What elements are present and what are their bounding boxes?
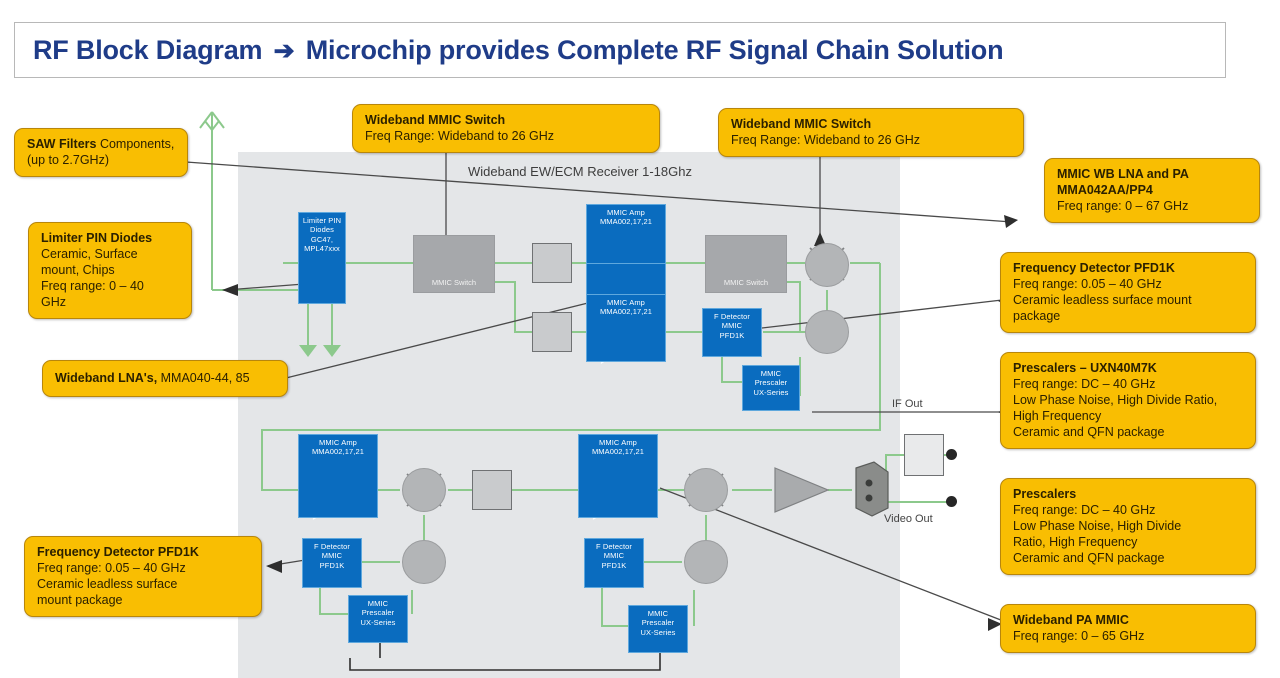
lpd-line-2: Ceramic, Surface <box>41 246 181 262</box>
amp-2-line-2: MMA002,17,21 <box>587 307 665 316</box>
lpd-line-5: GHz <box>41 294 181 310</box>
fdl-line-3: Ceramic leadless surface <box>37 576 251 592</box>
fdr-line-2: Freq range: 0.05 – 40 GHz <box>1013 276 1245 292</box>
presc-2-line-2: Prescaler <box>349 608 407 617</box>
presc-2-line-3: UX-Series <box>349 618 407 627</box>
limiter-line-2: Diodes <box>299 225 345 234</box>
presc-3-line-1: MMIC <box>629 609 687 618</box>
block-mmic-amp-2[interactable]: MMIC Amp MMA002,17,21 <box>586 294 666 362</box>
block-if-detector[interactable] <box>904 434 944 476</box>
lpd-line-4: Freq range: 0 – 40 <box>41 278 181 294</box>
presc-1-line-2: Prescaler <box>743 378 799 387</box>
oscillator-2[interactable] <box>402 540 446 584</box>
fdet-2-line-3: PFD1K <box>303 561 361 570</box>
swtr-hdr: Wideband MMIC Switch <box>731 116 1013 132</box>
block-prescaler-1[interactable]: MMIC Prescaler UX-Series <box>742 365 800 411</box>
pux-line-5: Ceramic and QFN package <box>1013 424 1245 440</box>
block-f-detector-1[interactable]: F Detector MMIC PFD1K <box>702 308 762 357</box>
lna-hdr: Wideband LNA's, <box>55 371 157 385</box>
mixer-3[interactable] <box>684 468 728 512</box>
oscillator-1[interactable] <box>805 310 849 354</box>
pre-line-4: Ratio, High Frequency <box>1013 534 1245 550</box>
amp-1-line-2: MMA002,17,21 <box>587 217 665 226</box>
callout-wideband-lnas[interactable]: Wideband LNA's, MMA040-44, 85 <box>42 360 288 397</box>
presc-1-line-1: MMIC <box>743 369 799 378</box>
block-mmic-amp-4[interactable]: MMIC Amp MMA002,17,21 <box>578 434 658 518</box>
lna-rest: MMA040-44, 85 <box>157 371 249 385</box>
fdl-hdr: Frequency Detector PFD1K <box>37 544 251 560</box>
wblna-line-3: Freq range: 0 – 67 GHz <box>1057 198 1249 214</box>
amp-4-line-2: MMA002,17,21 <box>579 447 657 456</box>
pux-line-4: High Frequency <box>1013 408 1245 424</box>
block-limiter-pin-diodes[interactable]: Limiter PIN Diodes GC47, MPL47xxx <box>298 212 346 304</box>
fdet-3-line-1: F Detector <box>585 542 643 551</box>
fdr-line-3: Ceramic leadless surface mount <box>1013 292 1245 308</box>
fdet-3-line-2: MMIC <box>585 551 643 560</box>
fdet-1-line-1: F Detector <box>703 312 761 321</box>
title-bar: RF Block Diagram ➔ Microchip provides Co… <box>14 22 1226 78</box>
lpd-line-3: mount, Chips <box>41 262 181 278</box>
swtl-line-2: Freq Range: Wideband to 26 GHz <box>365 128 649 144</box>
if-out-label: IF Out <box>892 398 923 410</box>
block-prescaler-2[interactable]: MMIC Prescaler UX-Series <box>348 595 408 643</box>
saw-hdr: SAW Filters <box>27 137 96 151</box>
block-f-detector-2[interactable]: F Detector MMIC PFD1K <box>302 538 362 588</box>
pre-hdr: Prescalers <box>1013 486 1245 502</box>
mixer-1[interactable] <box>805 243 849 287</box>
arrowhead-saw <box>1004 215 1018 228</box>
block-filter-2[interactable] <box>532 312 572 352</box>
pux-line-2: Freq range: DC – 40 GHz <box>1013 376 1245 392</box>
callout-mmic-switch-top-right[interactable]: Wideband MMIC Switch Freq Range: Wideban… <box>718 108 1024 157</box>
saw-rest: Components, <box>96 137 174 151</box>
fdet-1-line-3: PFD1K <box>703 331 761 340</box>
limiter-line-1: Limiter PIN <box>299 216 345 225</box>
pre-line-2: Freq range: DC – 40 GHz <box>1013 502 1245 518</box>
wblna-hdr: MMIC WB LNA and PA <box>1057 166 1249 182</box>
presc-1-line-3: UX-Series <box>743 388 799 397</box>
callout-mmic-switch-top-left[interactable]: Wideband MMIC Switch Freq Range: Wideban… <box>352 104 660 153</box>
limiter-line-3: GC47, <box>299 235 345 244</box>
oscillator-3[interactable] <box>684 540 728 584</box>
wpa-line-2: Freq range: 0 – 65 GHz <box>1013 628 1245 644</box>
presc-3-line-2: Prescaler <box>629 618 687 627</box>
presc-3-line-3: UX-Series <box>629 628 687 637</box>
block-filter-1[interactable] <box>532 243 572 283</box>
block-mmic-amp-3[interactable]: MMIC Amp MMA002,17,21 <box>298 434 378 518</box>
presc-2-line-1: MMIC <box>349 599 407 608</box>
block-mmic-switch-2[interactable]: MMIC Switch <box>705 235 787 293</box>
wpa-hdr: Wideband PA MMIC <box>1013 612 1245 628</box>
limiter-line-4: MPL47xxx <box>299 244 345 253</box>
block-filter-3[interactable] <box>472 470 512 510</box>
amp-2-line-1: MMIC Amp <box>587 298 665 307</box>
callout-wideband-pa-mmic[interactable]: Wideband PA MMIC Freq range: 0 – 65 GHz <box>1000 604 1256 653</box>
fdr-line-4: package <box>1013 308 1245 324</box>
lpd-hdr: Limiter PIN Diodes <box>41 230 181 246</box>
slide-root: RF Block Diagram ➔ Microchip provides Co… <box>0 0 1280 678</box>
callout-prescalers[interactable]: Prescalers Freq range: DC – 40 GHz Low P… <box>1000 478 1256 575</box>
swtr-line-2: Freq Range: Wideband to 26 GHz <box>731 132 1013 148</box>
wblna-line-2: MMA042AA/PP4 <box>1057 182 1249 198</box>
callout-frequency-detector-left[interactable]: Frequency Detector PFD1K Freq range: 0.0… <box>24 536 262 617</box>
title-right: Microchip provides Complete RF Signal Ch… <box>306 35 1004 65</box>
page-title: RF Block Diagram ➔ Microchip provides Co… <box>33 35 1003 66</box>
block-prescaler-3[interactable]: MMIC Prescaler UX-Series <box>628 605 688 653</box>
arrow-icon: ➔ <box>270 37 299 65</box>
block-f-detector-3[interactable]: F Detector MMIC PFD1K <box>584 538 644 588</box>
swtl-hdr: Wideband MMIC Switch <box>365 112 649 128</box>
title-left: RF Block Diagram <box>33 35 262 65</box>
diagram-panel-title: Wideband EW/ECM Receiver 1-18Ghz <box>468 164 692 179</box>
amp-3-line-1: MMIC Amp <box>299 438 377 447</box>
callout-limiter-pin-diodes[interactable]: Limiter PIN Diodes Ceramic, Surface moun… <box>28 222 192 319</box>
arrowhead-limiter <box>222 284 238 296</box>
fdl-line-4: mount package <box>37 592 251 608</box>
amp-1-line-1: MMIC Amp <box>587 208 665 217</box>
mmic-switch-2-label: MMIC Switch <box>706 278 786 287</box>
fdet-2-line-1: F Detector <box>303 542 361 551</box>
fdet-1-line-2: MMIC <box>703 321 761 330</box>
pre-line-5: Ceramic and QFN package <box>1013 550 1245 566</box>
mixer-2[interactable] <box>402 468 446 512</box>
fdet-3-line-3: PFD1K <box>585 561 643 570</box>
pux-line-3: Low Phase Noise, High Divide Ratio, <box>1013 392 1245 408</box>
callout-prescalers-uxn40m7k[interactable]: Prescalers – UXN40M7K Freq range: DC – 4… <box>1000 352 1256 449</box>
block-mmic-amp-1[interactable]: MMIC Amp MMA002,17,21 <box>586 204 666 264</box>
video-out-terminal[interactable] <box>946 496 957 507</box>
if-out-terminal[interactable] <box>946 449 957 460</box>
video-out-label: Video Out <box>884 513 933 525</box>
callout-frequency-detector-right[interactable]: Frequency Detector PFD1K Freq range: 0.0… <box>1000 252 1256 333</box>
fdl-line-2: Freq range: 0.05 – 40 GHz <box>37 560 251 576</box>
saw-line-2: (up to 2.7GHz) <box>27 152 177 168</box>
pux-hdr: Prescalers – UXN40M7K <box>1013 360 1245 376</box>
callout-saw-filters[interactable]: SAW Filters Components, (up to 2.7GHz) <box>14 128 188 177</box>
amp-4-line-1: MMIC Amp <box>579 438 657 447</box>
callout-mmic-wb-lna-and-pa[interactable]: MMIC WB LNA and PA MMA042AA/PP4 Freq ran… <box>1044 158 1260 223</box>
block-mmic-switch-1[interactable]: MMIC Switch <box>413 235 495 293</box>
mmic-switch-1-label: MMIC Switch <box>414 278 494 287</box>
lna-line-1: Wideband LNA's, MMA040-44, 85 <box>55 370 277 386</box>
pre-line-3: Low Phase Noise, High Divide <box>1013 518 1245 534</box>
amp-3-line-2: MMA002,17,21 <box>299 447 377 456</box>
fdr-hdr: Frequency Detector PFD1K <box>1013 260 1245 276</box>
saw-line-1: SAW Filters Components, <box>27 136 177 152</box>
fdet-2-line-2: MMIC <box>303 551 361 560</box>
